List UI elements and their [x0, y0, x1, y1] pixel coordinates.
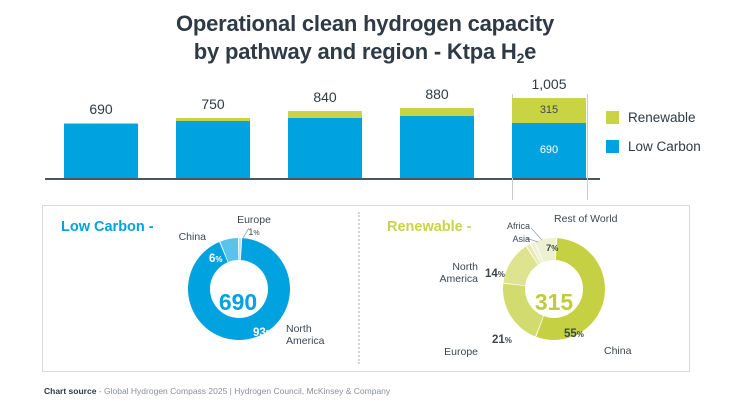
bar-total-label: 690 [54, 101, 148, 117]
renewable-label-china: China [604, 346, 664, 358]
bar-segment-low-carbon[interactable] [64, 124, 138, 178]
renewable-donut: 315 55% 21% 14% 7% Rest of World Africa … [366, 206, 689, 371]
title-line-2: by pathway and region - Ktpa H2e [0, 38, 730, 72]
renewable-label-asia: Asia [474, 234, 530, 246]
legend-item-label: Renewable [628, 110, 696, 125]
donut-panel: Low Carbon - Renewable - 690 93% 6% Euro… [42, 205, 690, 372]
bar-segment-low-carbon[interactable] [400, 116, 474, 178]
renewable-center-value: 315 [504, 289, 604, 316]
low-carbon-pct-china: 6% [209, 253, 223, 265]
chart-legend: RenewableLow Carbon [606, 110, 701, 168]
title-line-2-post: e [524, 39, 536, 64]
chart-source-footer: Chart source - Global Hydrogen Compass 2… [44, 386, 390, 396]
bar-segment-renewable[interactable]: 315 [512, 98, 586, 123]
renewable-label-africa: Africa [474, 221, 530, 233]
chart-root: Operational clean hydrogen capacity by p… [0, 0, 730, 411]
bar-total-label: 880 [390, 86, 484, 102]
bar-segment-label-low-carbon: 690 [512, 144, 586, 156]
renewable-label-rest-of-world: Rest of World [554, 214, 644, 226]
bar-column[interactable]: 315690 [512, 98, 586, 178]
title-line-2-pre: by pathway and region - Ktpa H [194, 39, 517, 64]
legend-swatch-icon [606, 140, 619, 153]
legend-item-label: Low Carbon [628, 139, 701, 154]
low-carbon-label-north-america: NorthAmerica [286, 324, 350, 347]
renewable-pct-china: 55% [564, 328, 584, 340]
legend-item-low-carbon[interactable]: Low Carbon [606, 139, 701, 154]
bar-column[interactable] [400, 108, 474, 178]
low-carbon-pct-north-america: 93% [253, 327, 273, 339]
renewable-label-north-america: NorthAmerica [410, 262, 478, 285]
bar-column[interactable] [288, 111, 362, 178]
renewable-label-europe: Europe [410, 347, 478, 359]
bar-column[interactable] [176, 118, 250, 178]
chart-source-text: - Global Hydrogen Compass 2025 | Hydroge… [96, 386, 390, 396]
bar-segment-low-carbon[interactable] [288, 118, 362, 178]
title-line-1: Operational clean hydrogen capacity [176, 11, 554, 36]
low-carbon-label-europe: Europe1% [226, 215, 282, 239]
low-carbon-donut: 690 93% 6% Europe1% China NorthAmerica [43, 206, 366, 371]
bar-column[interactable] [64, 123, 138, 178]
low-carbon-center-value: 690 [188, 289, 288, 316]
legend-item-renewable[interactable]: Renewable [606, 110, 701, 125]
renewable-pct-rest-of-world: 7% [546, 243, 558, 254]
low-carbon-label-china: China [154, 232, 206, 244]
renewable-pct-europe: 21% [492, 334, 512, 346]
page-title: Operational clean hydrogen capacity by p… [0, 10, 730, 72]
bar-total-label: 840 [278, 89, 372, 105]
chart-source-label: Chart source [44, 386, 96, 396]
renewable-pct-north-america: 14% [485, 268, 505, 280]
donut-leader-line [531, 228, 542, 240]
bar-segment-low-carbon[interactable]: 690 [512, 123, 586, 178]
bar-total-label: 750 [166, 96, 260, 112]
bar-total-label: 1,005 [502, 76, 596, 92]
donut-slice-europe[interactable] [239, 238, 241, 260]
legend-swatch-icon [606, 111, 619, 124]
bar-segment-low-carbon[interactable] [176, 121, 250, 178]
bar-segment-renewable[interactable] [400, 108, 474, 116]
bar-segment-label-renewable: 315 [512, 104, 586, 116]
